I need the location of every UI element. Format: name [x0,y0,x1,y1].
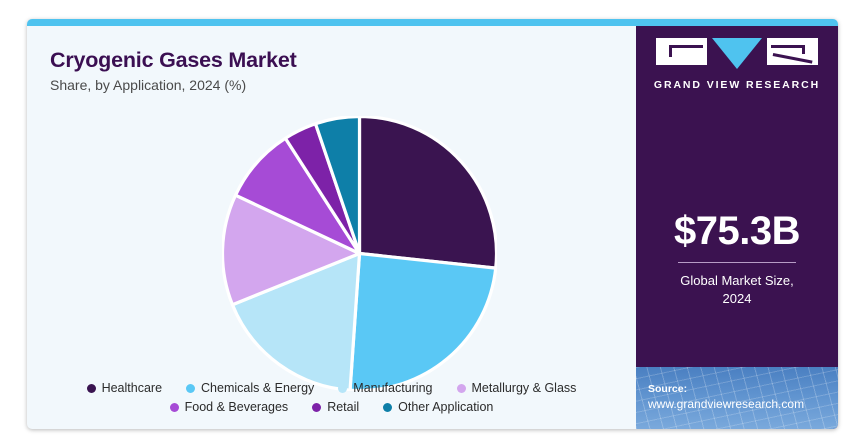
chart-legend: HealthcareChemicals & EnergyManufacturin… [27,381,636,414]
logo-g-icon [656,38,707,65]
brand-logo: GRAND VIEW RESEARCH [636,38,838,91]
legend-color-dot-icon [338,384,347,393]
logo-r-icon [767,38,818,65]
page-title: Cryogenic Gases Market [50,48,297,73]
stat-caption: Global Market Size, 2024 [636,272,838,307]
legend-color-dot-icon [312,403,321,412]
legend-item[interactable]: Healthcare [87,381,162,395]
legend-color-dot-icon [186,384,195,393]
source-url[interactable]: www.grandviewresearch.com [648,397,804,411]
legend-label: Manufacturing [353,381,432,395]
stat-divider [678,262,796,263]
source-footer: Source: www.grandviewresearch.com [636,367,838,429]
logo-marks [636,38,838,69]
stat-caption-line2: 2024 [636,290,838,308]
legend-item[interactable]: Manufacturing [338,381,432,395]
legend-color-dot-icon [170,403,179,412]
legend-row: HealthcareChemicals & EnergyManufacturin… [75,381,589,395]
legend-item[interactable]: Other Application [383,400,493,414]
source-label: Source: [648,383,804,395]
legend-color-dot-icon [383,403,392,412]
legend-row: Food & BeveragesRetailOther Application [158,400,506,414]
pie-slice[interactable] [360,117,497,269]
chart-area: Cryogenic Gases Market Share, by Applica… [27,26,636,429]
legend-item[interactable]: Food & Beverages [170,400,289,414]
legend-label: Chemicals & Energy [201,381,314,395]
top-accent-bar [27,19,838,26]
legend-color-dot-icon [87,384,96,393]
legend-item[interactable]: Metallurgy & Glass [457,381,577,395]
chart-subtitle: Share, by Application, 2024 (%) [50,77,246,93]
legend-item[interactable]: Chemicals & Energy [186,381,314,395]
pie-chart [222,116,497,391]
pie-chart-svg [222,116,497,391]
legend-label: Healthcare [102,381,162,395]
legend-item[interactable]: Retail [312,400,359,414]
legend-label: Metallurgy & Glass [472,381,577,395]
legend-color-dot-icon [457,384,466,393]
legend-label: Food & Beverages [185,400,289,414]
brand-name: GRAND VIEW RESEARCH [636,79,838,91]
brand-panel: GRAND VIEW RESEARCH $75.3B Global Market… [636,26,838,429]
logo-v-triangle-icon [712,38,762,69]
pie-slice[interactable] [350,254,496,391]
legend-label: Retail [327,400,359,414]
stat-value: $75.3B [636,211,838,251]
market-size-stat: $75.3B Global Market Size, 2024 [636,211,838,307]
legend-label: Other Application [398,400,493,414]
infographic-card: Cryogenic Gases Market Share, by Applica… [27,19,838,429]
stat-caption-line1: Global Market Size, [636,272,838,290]
